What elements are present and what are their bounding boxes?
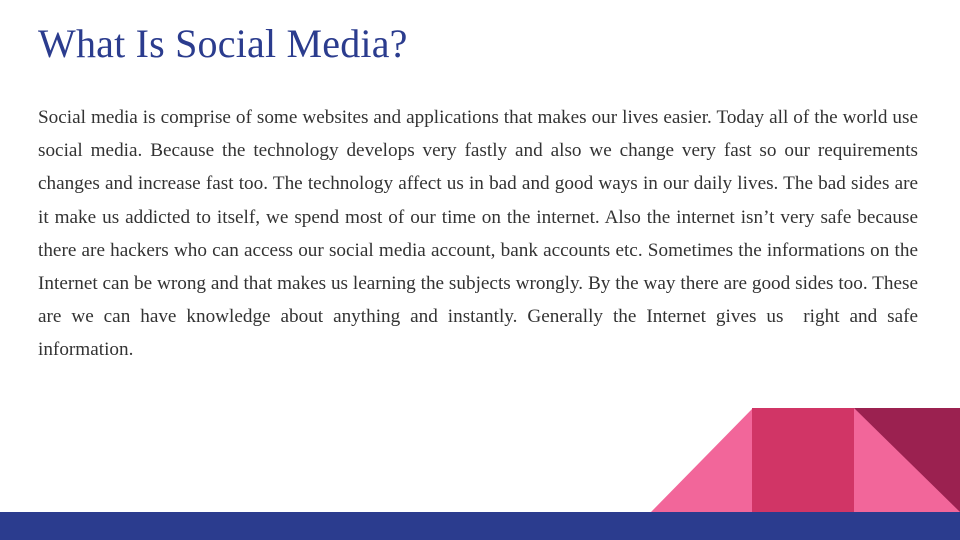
page-title: What Is Social Media? <box>38 20 918 68</box>
medium-pink-block-shape <box>752 408 855 512</box>
decorative-chevron-band <box>640 408 960 512</box>
light-pink-ramp-shape <box>640 408 753 512</box>
slide-body-text: Social media is comprise of some website… <box>38 101 918 367</box>
presentation-slide: What Is Social Media? Social media is co… <box>0 0 960 540</box>
bottom-accent-bar <box>0 512 960 540</box>
